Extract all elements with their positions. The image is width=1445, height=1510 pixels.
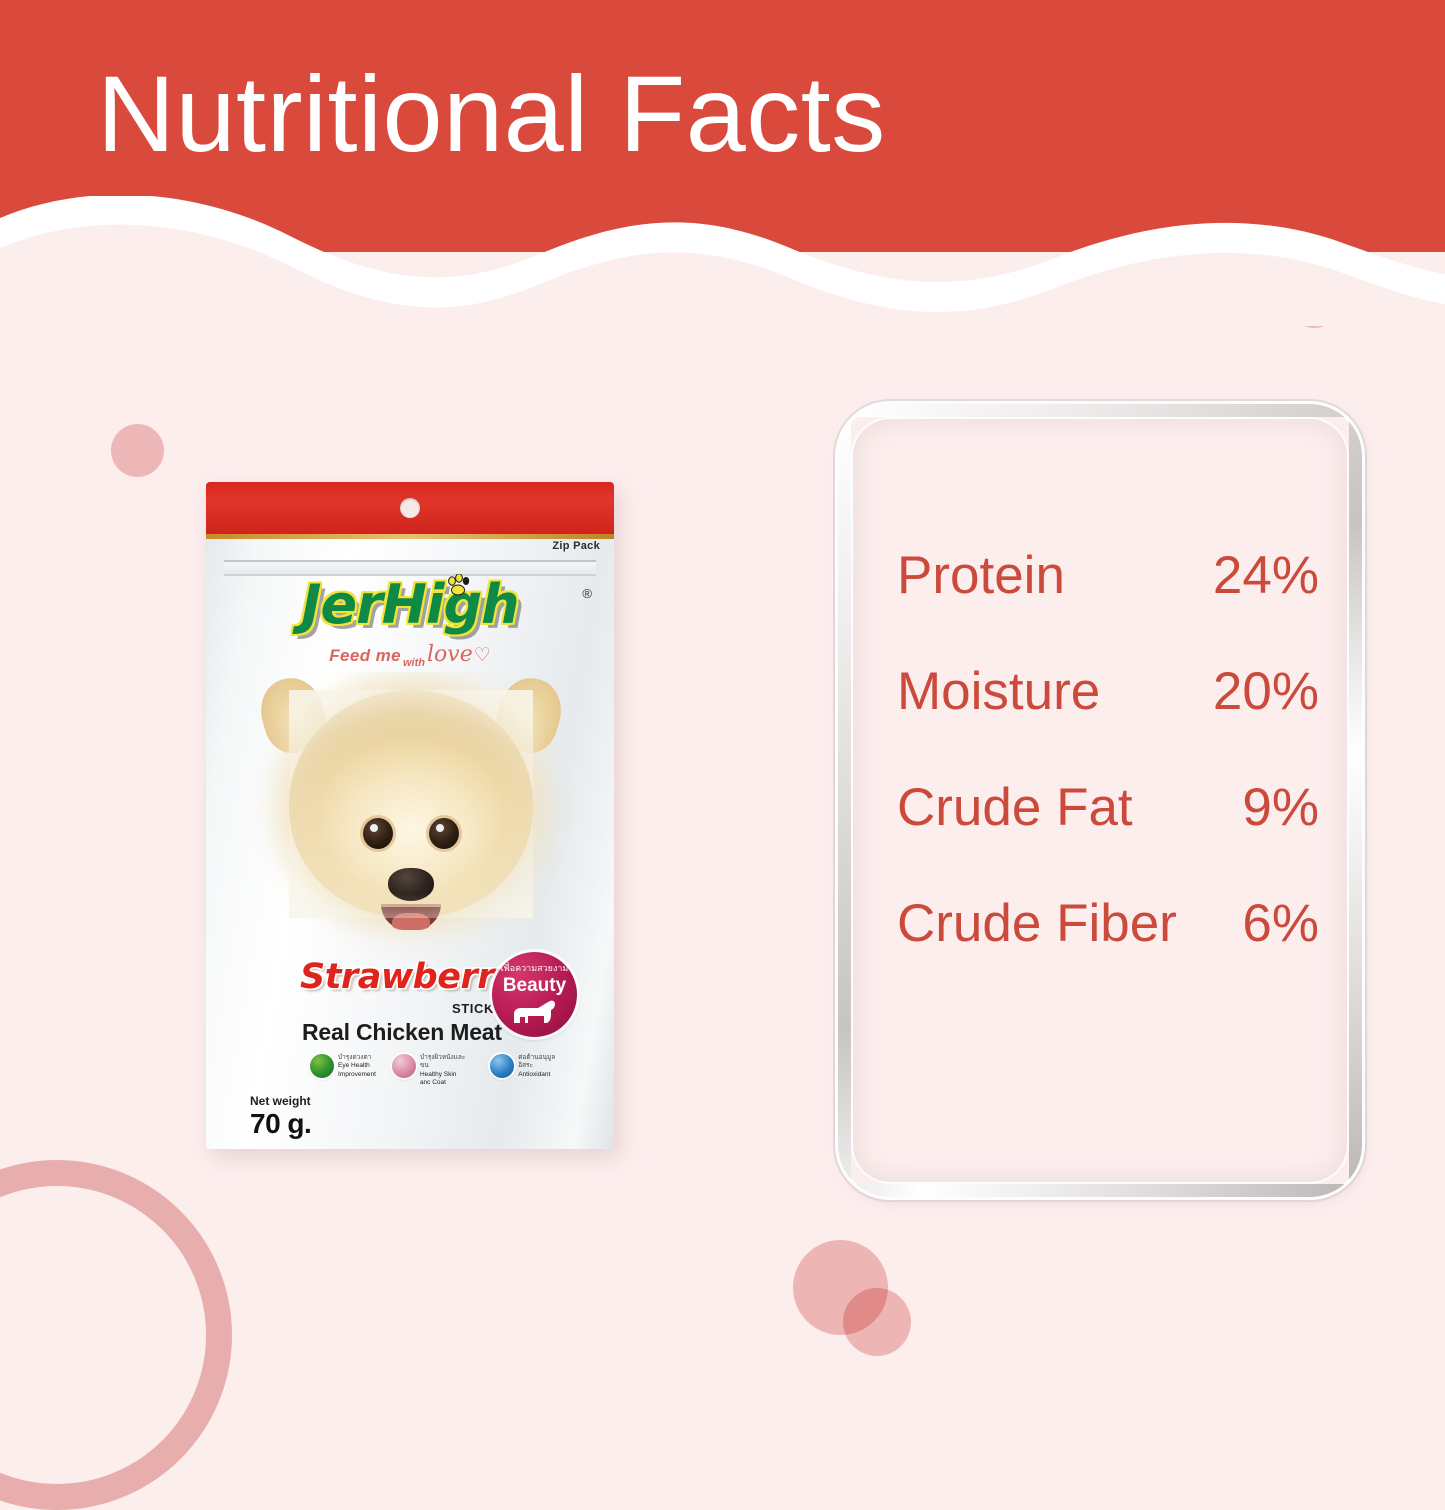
coat-icon [392,1054,416,1078]
benefit-eye-health: บำรุงดวงตา Eye Health Improvement [310,1054,376,1079]
product-package-image: Zip Pack JerHigh ® Feed mewithlove♡ Stra… [206,482,614,1149]
decorative-circle-bottom-small [843,1288,911,1356]
heart-icon: ♡ [474,645,491,666]
nutrition-row-crude-fat: Crude Fat 9% [897,781,1319,897]
nutrition-label-crude-fiber: Crude Fiber [897,897,1177,950]
paw-print-icon [446,574,472,596]
package-zip-pack-label: Zip Pack [552,540,600,552]
package-net-weight-value: 70 g. [250,1108,311,1140]
nutrition-value-crude-fat: 9% [1242,781,1319,834]
package-real-meat-claim: Real Chicken Meat [302,1019,502,1046]
nutrition-label-crude-fat: Crude Fat [897,781,1133,834]
nutrition-label-moisture: Moisture [897,665,1100,718]
benefit-skin-text: บำรุงผิวหนังและขน Healthy Skin anc Coat [420,1054,474,1088]
package-hang-hole [400,498,420,518]
benefit-antioxidant: ต่อต้านอนุมูลอิสระ Antioxidant [490,1054,570,1079]
shield-icon [490,1054,514,1078]
beauty-badge-label: Beauty [492,975,577,997]
decorative-ring-bottom-left [0,1160,232,1510]
benefit-healthy-skin: บำรุงผิวหนังและขน Healthy Skin anc Coat [392,1054,474,1088]
page-title: Nutritional Facts [97,60,886,168]
tagline-with: with [403,657,425,669]
nutrition-facts-panel: Protein 24% Moisture 20% Crude Fat 9% Cr… [838,404,1362,1197]
package-benefit-icons: บำรุงดวงตา Eye Health Improvement บำรุงผ… [310,1054,570,1088]
beauty-badge: เพื่อความสวยงาม Beauty [492,952,577,1037]
benefit-eye-thai: บำรุงดวงตา [338,1054,371,1061]
benefit-skin-line1: Healthy Skin [420,1071,457,1078]
header-wave-divider [0,196,1445,326]
brand-name-text: JerHigh [301,578,518,632]
tagline-feed-me: Feed me [329,646,401,665]
eye-icon [310,1054,334,1078]
benefit-skin-thai: บำรุงผิวหนังและขน [420,1054,465,1069]
beauty-badge-thai-text: เพื่อความสวยงาม [492,964,577,973]
nutrition-label-protein: Protein [897,549,1065,602]
benefit-eye-health-text: บำรุงดวงตา Eye Health Improvement [338,1054,376,1079]
tagline-love: love [427,642,473,667]
package-gold-strip [206,534,614,539]
benefit-antioxidant-text: ต่อต้านอนุมูลอิสระ Antioxidant [518,1054,570,1079]
package-brand-logo: JerHigh [206,578,614,632]
nutrition-row-moisture: Moisture 20% [897,665,1319,781]
benefit-skin-line2: anc Coat [420,1079,446,1086]
benefit-anti-thai: ต่อต้านอนุมูลอิสระ [518,1054,555,1069]
nutrition-row-crude-fiber: Crude Fiber 6% [897,897,1319,1013]
nutrition-rows: Protein 24% Moisture 20% Crude Fat 9% Cr… [897,549,1319,1013]
package-stick-label: STICK [452,1001,494,1016]
package-tagline: Feed mewithlove♡ [206,642,614,667]
nutrition-value-moisture: 20% [1213,665,1319,718]
registered-trademark-icon: ® [582,586,592,601]
benefit-anti-line1: Antioxidant [518,1071,550,1078]
dog-silhouette-icon [508,999,562,1027]
decorative-circle-left [111,424,164,477]
package-dog-photo [246,672,576,972]
nutrition-value-protein: 24% [1213,549,1319,602]
nutrition-value-crude-fiber: 6% [1242,897,1319,950]
package-net-weight-label: Net weight [250,1094,311,1108]
nutrition-row-protein: Protein 24% [897,549,1319,665]
dog-head [289,690,533,918]
benefit-eye-line2: Improvement [338,1071,376,1078]
benefit-eye-line1: Eye Health [338,1062,370,1069]
dog-fur-glow [289,690,533,918]
